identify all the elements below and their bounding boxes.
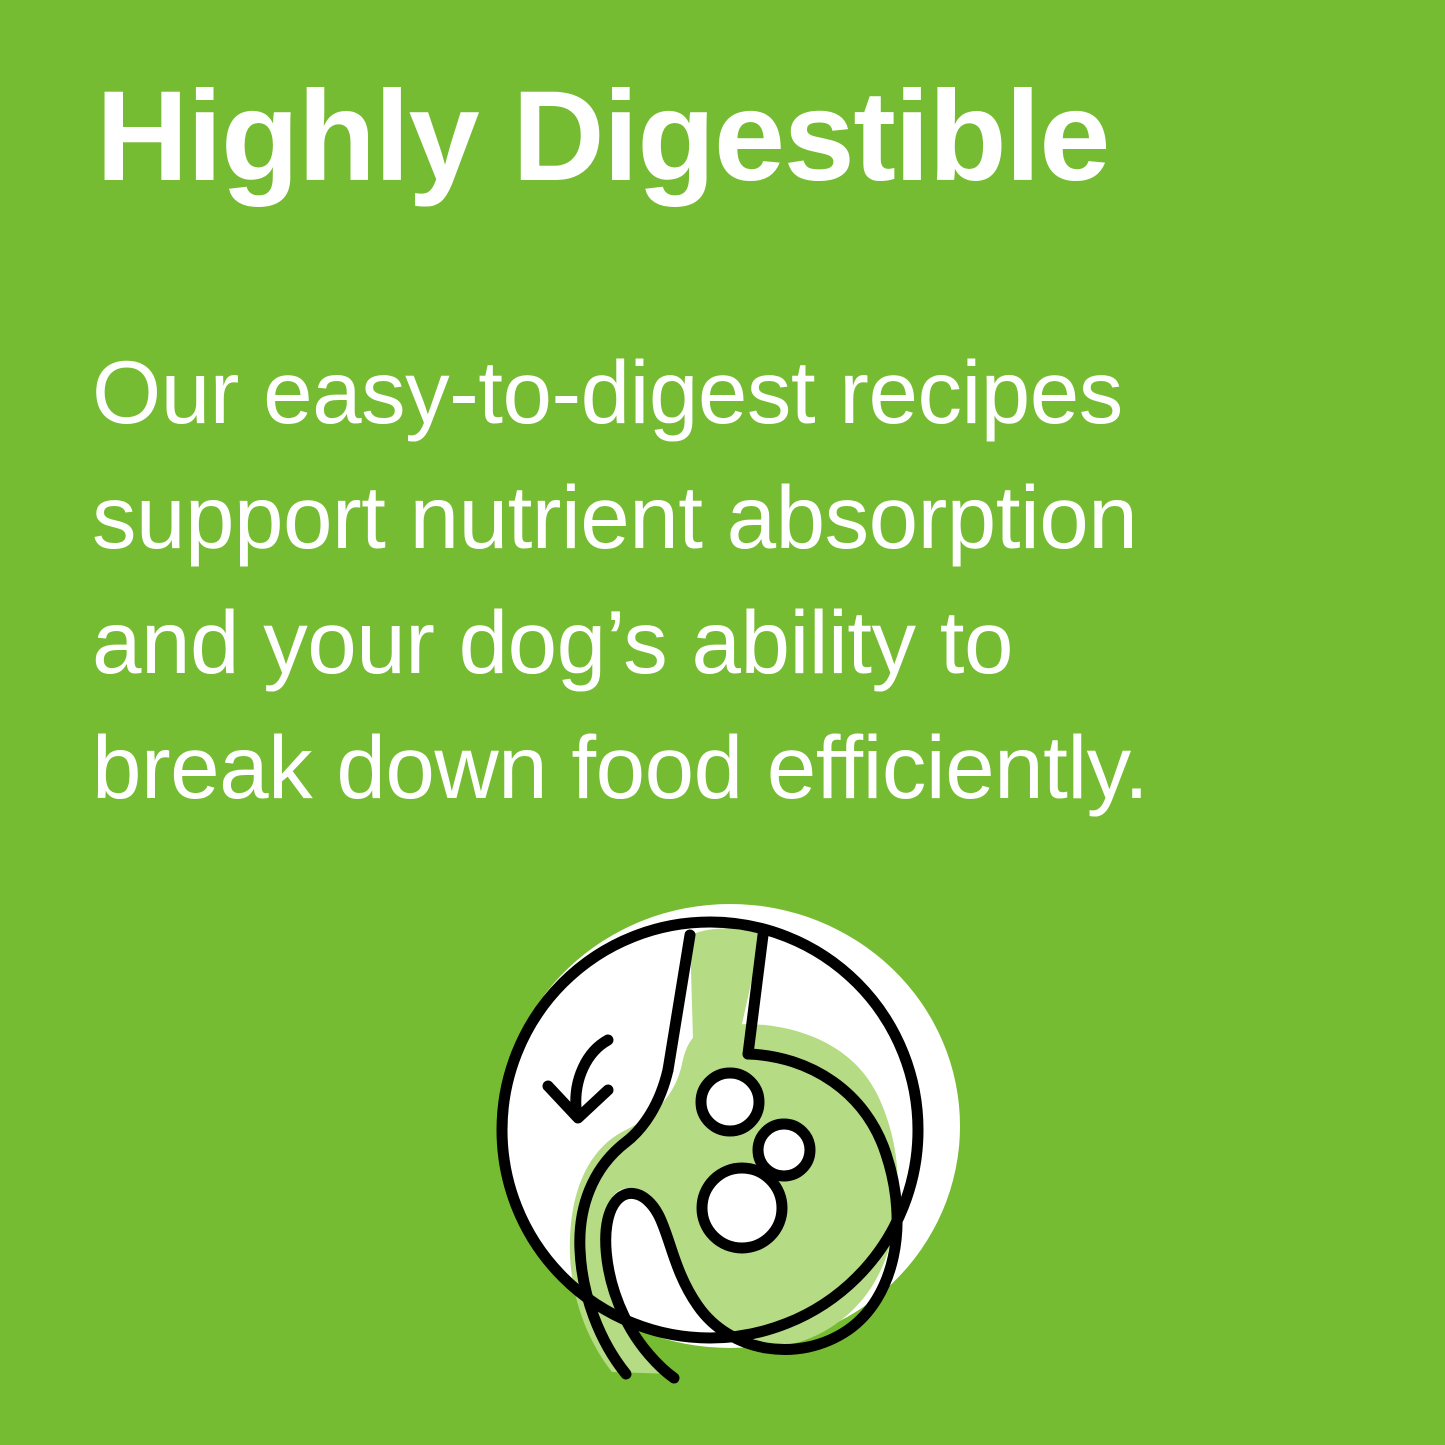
food-particle-3 bbox=[702, 1168, 782, 1248]
body-copy-line-1: Our easy-to-digest recipes bbox=[92, 330, 1382, 455]
food-particle-1 bbox=[701, 1073, 759, 1131]
body-copy-line-4: break down food efficiently. bbox=[92, 705, 1382, 830]
body-copy-line-2: support nutrient absorption bbox=[92, 455, 1382, 580]
highly-digestible-panel: Highly Digestible Our easy-to-digest rec… bbox=[0, 0, 1445, 1445]
stomach-digestion-icon bbox=[462, 878, 984, 1400]
body-copy-line-3: and your dog’s ability to bbox=[92, 580, 1382, 705]
food-particle-2 bbox=[758, 1124, 810, 1176]
body-copy: Our easy-to-digest recipes support nutri… bbox=[92, 330, 1382, 830]
page-title: Highly Digestible bbox=[96, 72, 1376, 203]
